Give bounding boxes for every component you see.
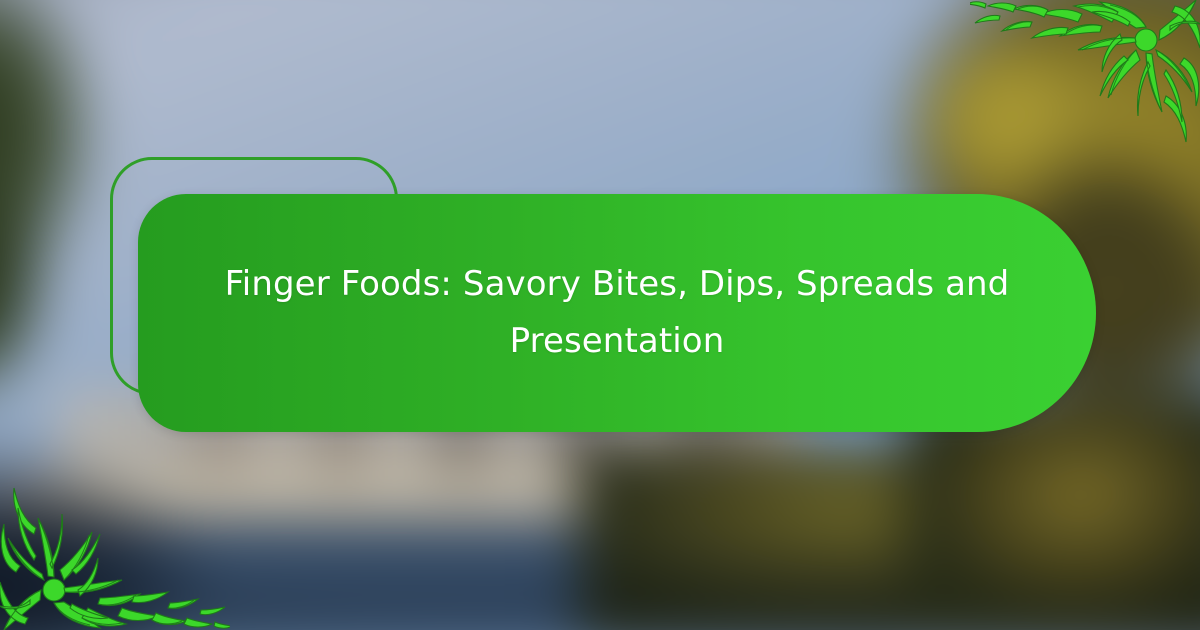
title-card: Finger Foods: Savory Bites, Dips, Spread… (138, 194, 1096, 432)
banner-stage: Finger Foods: Savory Bites, Dips, Spread… (0, 0, 1200, 630)
page-title: Finger Foods: Savory Bites, Dips, Spread… (222, 256, 1012, 370)
